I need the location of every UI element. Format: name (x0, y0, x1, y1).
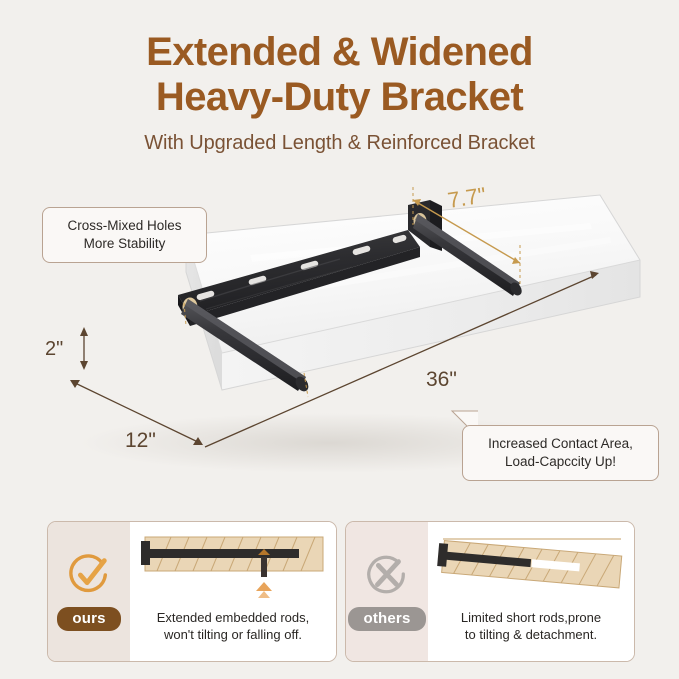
title-line-1: Extended & Widened (0, 30, 679, 75)
callout-holes-line-2: More Stability (53, 235, 196, 253)
others-caption: Limited short rods,prone to tilting & de… (457, 609, 605, 643)
ours-caption-line-2: won't tilting or falling off. (157, 626, 310, 643)
callout-increased-contact: Increased Contact Area, Load-Capccity Up… (462, 425, 659, 481)
others-caption-line-2: to tilting & detachment. (461, 626, 601, 643)
tag-others: others (348, 607, 425, 631)
panel-ours-content: Extended embedded rods, won't tilting or… (130, 522, 336, 661)
ours-caption: Extended embedded rods, won't tilting or… (153, 609, 314, 643)
header: Extended & Widened Heavy-Duty Bracket Wi… (0, 0, 679, 155)
comparison-panel-others: others (345, 521, 635, 662)
callout-cross-mixed-holes: Cross-Mixed Holes More Stability (42, 207, 207, 263)
subtitle: With Upgraded Length & Reinforced Bracke… (0, 132, 679, 155)
cross-circle-icon (364, 552, 410, 598)
tag-ours: ours (57, 607, 120, 631)
others-diagram (429, 527, 633, 609)
dimension-thickness-arrow (80, 327, 88, 370)
title-line-2: Heavy-Duty Bracket (0, 75, 679, 120)
comparison-panel-ours: ours (47, 521, 337, 662)
comparison-row: ours (0, 521, 679, 661)
dimension-depth: 12" (125, 429, 156, 452)
panel-others-content: Limited short rods,prone to tilting & de… (428, 522, 634, 661)
others-caption-line-1: Limited short rods,prone (461, 609, 601, 626)
callout-contact-line-2: Load-Capccity Up! (473, 453, 648, 471)
callout-holes-line-1: Cross-Mixed Holes (53, 217, 196, 235)
dimension-thickness: 2" (45, 338, 63, 360)
check-circle-icon (66, 552, 112, 598)
panel-ours-badge-column: ours (48, 522, 130, 661)
ours-caption-line-1: Extended embedded rods, (157, 609, 310, 626)
ours-diagram (131, 527, 335, 609)
infographic-root: Extended & Widened Heavy-Duty Bracket Wi… (0, 0, 679, 679)
dimension-width: 36" (426, 368, 457, 391)
callout-contact-line-1: Increased Contact Area, (473, 435, 648, 453)
panel-others-badge-column: others (346, 522, 428, 661)
